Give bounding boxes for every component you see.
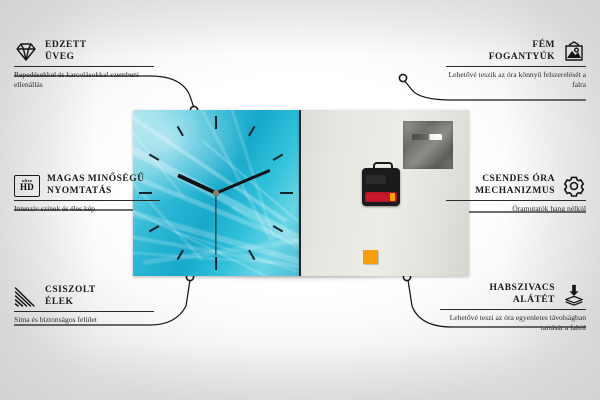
callout-title: CSENDES ÓRA MECHANIZMUS (475, 174, 555, 197)
callout-rule (14, 66, 154, 67)
mechanism-hook (373, 162, 393, 172)
callout-csendes-ora-mechanizmus: CSENDES ÓRA MECHANIZMUS Óramutatók hang … (446, 174, 586, 214)
callout-title-line2: ÜVEG (45, 52, 74, 62)
callout-rule (446, 200, 586, 201)
diamond-icon (14, 41, 38, 63)
callout-edzett-uveg: EDZETT ÜVEG Repedésekkel és karcolásokka… (14, 40, 154, 91)
callout-title-line1: CSISZOLT (45, 285, 96, 295)
callout-description: Lehetővé teszi az óra egyenletes távolsá… (440, 313, 586, 334)
callout-title: CSISZOLT ÉLEK (45, 285, 96, 308)
callout-csiszolt-elek: CSISZOLT ÉLEK Sima és biztonságos felüle… (14, 285, 154, 325)
clock-tick (215, 116, 217, 129)
metal-hanger-part (403, 121, 453, 169)
callout-title: EDZETT ÜVEG (45, 40, 87, 63)
callout-header: ultra HD MAGAS MINŐSÉGŰ NYOMTATÁS (14, 174, 160, 197)
hanger-slot (412, 134, 442, 140)
callout-fem-fogantyuk: FÉM FOGANTYÚK Lehetővé teszik az óra kön… (446, 40, 586, 91)
mechanism-slot (366, 175, 386, 184)
callout-header: HABSZIVACS ALÁTÉT (440, 283, 586, 306)
callout-header: CSENDES ÓRA MECHANIZMUS (446, 174, 586, 197)
callout-rule (14, 311, 154, 312)
infographic-stage: EDZETT ÜVEG Repedésekkel és karcolásokka… (0, 0, 600, 400)
picture-hanger-icon (562, 41, 586, 63)
foam-pad-part (363, 250, 378, 264)
callout-title-line1: FÉM (532, 40, 555, 50)
callout-title-line2: MECHANIZMUS (475, 186, 555, 196)
callout-title-line2: ÉLEK (45, 297, 73, 307)
callout-title: FÉM FOGANTYÚK (489, 40, 555, 63)
callout-habszivacs-alatet: HABSZIVACS ALÁTÉT Lehetővé teszi az óra … (440, 283, 586, 334)
callout-title: HABSZIVACS ALÁTÉT (489, 283, 555, 306)
callout-description: Lehetővé teszik az óra könnyű felszerelé… (446, 70, 586, 91)
badge-hd-text: HD (20, 183, 34, 192)
callout-title: MAGAS MINŐSÉGŰ NYOMTATÁS (47, 174, 145, 197)
callout-title-line1: CSENDES ÓRA (482, 174, 555, 184)
callout-title-line2: NYOMTATÁS (47, 186, 112, 196)
callout-title-line2: ALÁTÉT (513, 295, 555, 305)
callout-description: Repedésekkel és karcolásokkal szembeni e… (14, 70, 154, 91)
foam-pad-icon (562, 284, 586, 306)
callout-magas-minosegu-nyomtatas: ultra HD MAGAS MINŐSÉGŰ NYOMTATÁS Intenz… (14, 174, 160, 214)
callout-description: Óramutatók hang nélkül (446, 204, 586, 214)
clock-center-pin (213, 190, 219, 196)
callout-description: Sima és biztonságos felület (14, 315, 154, 325)
callout-title-line2: FOGANTYÚK (489, 52, 555, 62)
callout-header: EDZETT ÜVEG (14, 40, 154, 63)
callout-title-line1: MAGAS MINŐSÉGŰ (47, 174, 145, 184)
callout-rule (440, 309, 586, 310)
callout-title-line1: HABSZIVACS (489, 283, 555, 293)
callout-rule (14, 200, 160, 201)
callout-header: FÉM FOGANTYÚK (446, 40, 586, 63)
callout-rule (446, 66, 586, 67)
ultra-hd-badge-icon: ultra HD (14, 175, 40, 197)
gear-icon (562, 175, 586, 197)
battery-part (365, 192, 397, 202)
clock-back-panel (299, 110, 469, 276)
callout-title-line1: EDZETT (45, 40, 87, 50)
callout-description: Intenzív színek és éles kép (14, 204, 160, 214)
clock-tick (280, 192, 293, 194)
clock-tick (215, 257, 217, 270)
battery-terminal (390, 193, 395, 201)
polished-edge-icon (14, 286, 38, 308)
clock-mechanism-part (362, 168, 400, 206)
callout-header: CSISZOLT ÉLEK (14, 285, 154, 308)
product-image (133, 110, 467, 276)
